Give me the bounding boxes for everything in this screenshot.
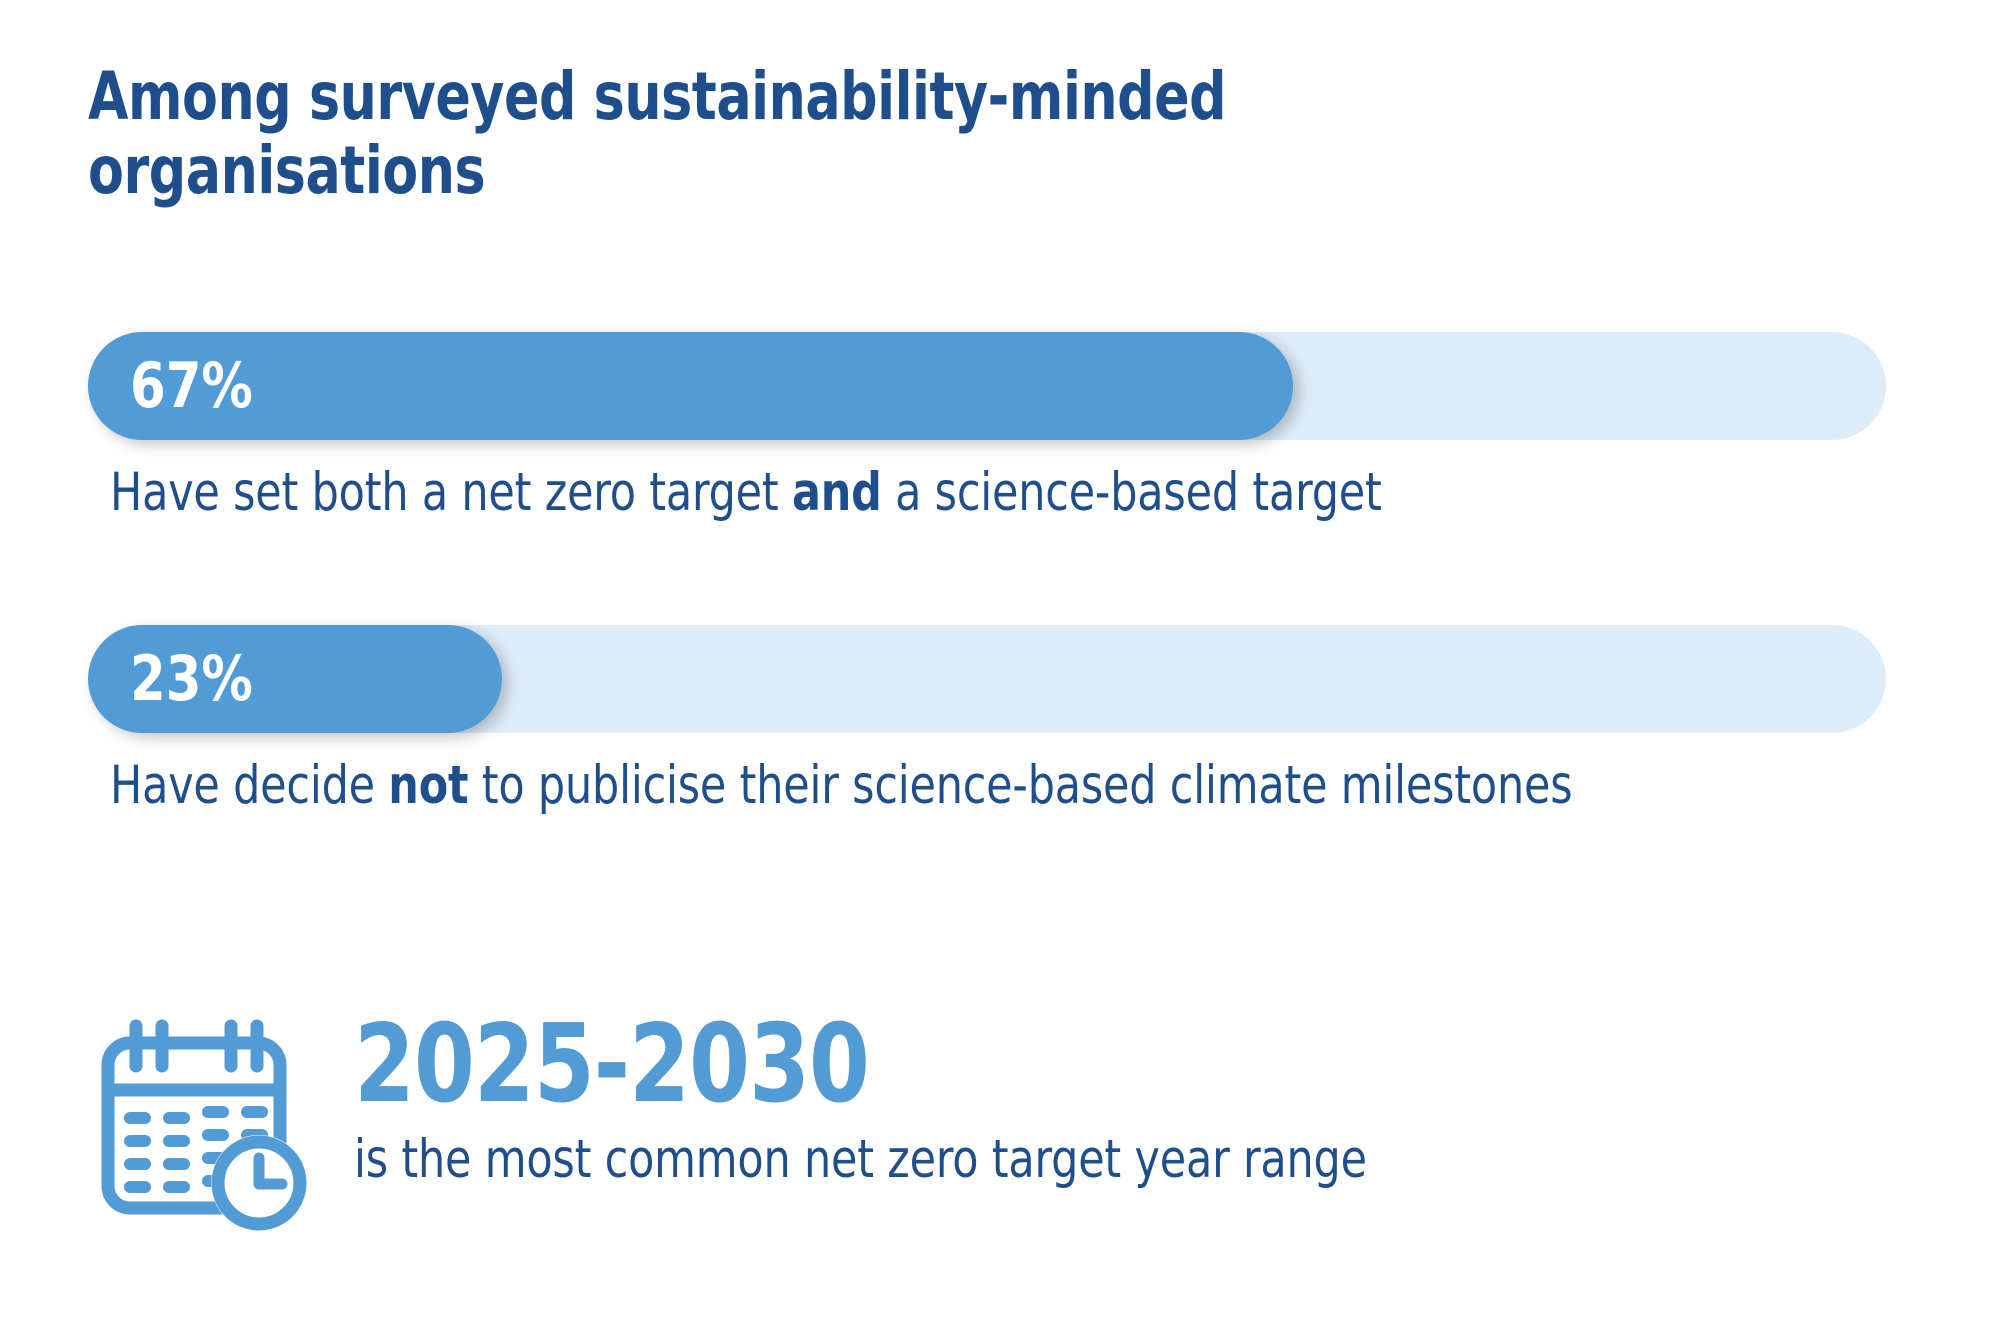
calendar-clock-icon (88, 1018, 312, 1236)
bar-value-0: 67% (130, 355, 253, 417)
bar-caption-0-emphasis: and (792, 462, 882, 523)
bar-caption-1-before: Have decide (110, 755, 388, 816)
bar-fill-1: 23% (88, 625, 502, 733)
infographic-canvas: Among surveyed sustainability-minded org… (0, 0, 2000, 1334)
bar-fill-0: 67% (88, 332, 1293, 440)
stat-block-1: 23% Have decide not to publicise their s… (0, 625, 2000, 817)
footer-headline: 2025-2030 (354, 1010, 1367, 1120)
footer-text-group: 2025-2030 is the most common net zero ta… (354, 1010, 1479, 1191)
bar-caption-1-emphasis: not (388, 755, 468, 816)
bar-caption-1-after: to publicise their science-based climate… (468, 755, 1572, 816)
footer-subtitle: is the most common net zero target year … (354, 1130, 1367, 1191)
bar-caption-0-after: a science-based target (882, 462, 1382, 523)
bar-caption-1: Have decide not to publicise their scien… (110, 755, 1694, 817)
bar-track-1: 23% (88, 625, 1886, 733)
footer-highlight: 2025-2030 is the most common net zero ta… (88, 1010, 1918, 1236)
page-title: Among surveyed sustainability-minded org… (88, 60, 1461, 208)
bar-caption-0-before: Have set both a net zero target (110, 462, 792, 523)
bar-track-0: 67% (88, 332, 1886, 440)
bar-value-1: 23% (130, 648, 253, 710)
stat-block-0: 67% Have set both a net zero target and … (0, 332, 2000, 524)
bar-caption-0: Have set both a net zero target and a sc… (110, 462, 1694, 524)
